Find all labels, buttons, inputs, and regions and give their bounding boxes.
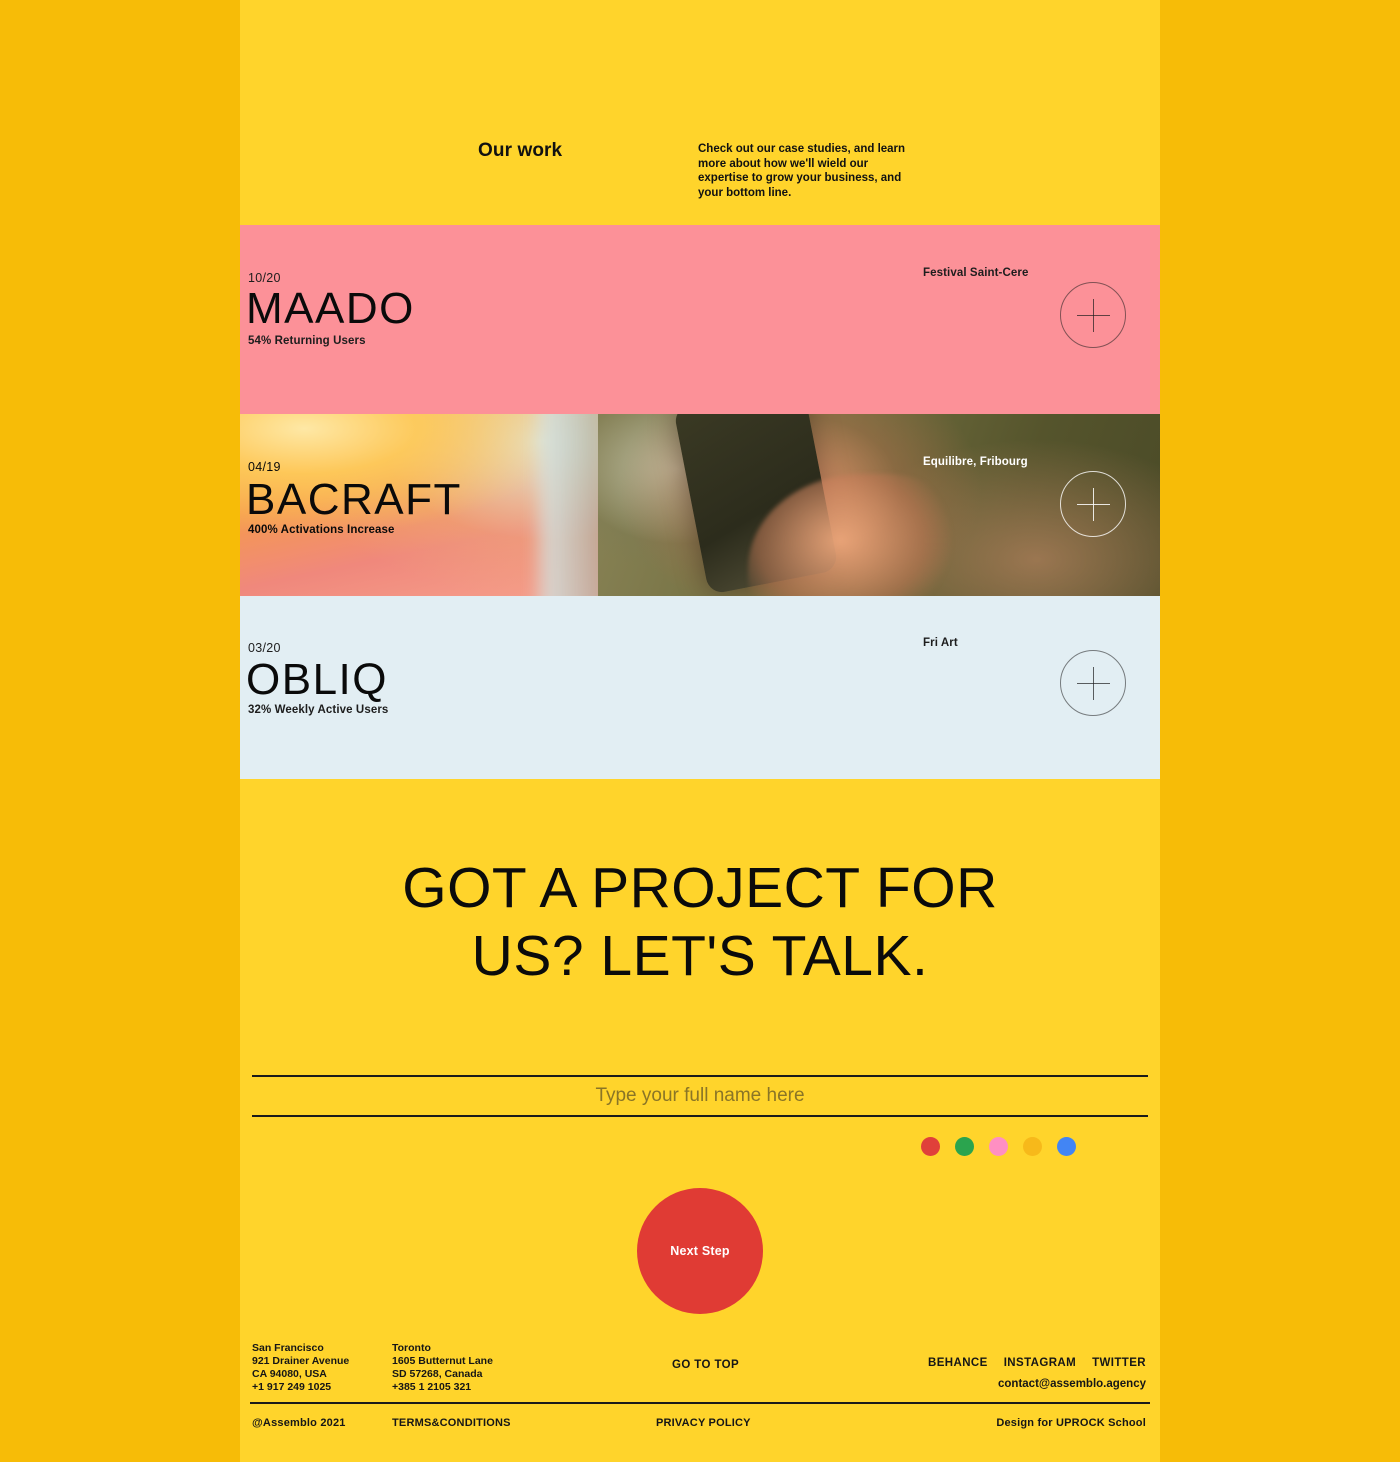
step-dot-2[interactable] xyxy=(955,1137,974,1156)
social-link-instagram[interactable]: INSTAGRAM xyxy=(1004,1357,1076,1369)
site-footer: San Francisco 921 Drainer Avenue CA 9408… xyxy=(240,1334,1160,1462)
project-row-bacraft[interactable]: 04/19 BACRAFT 400% Activations Increase … xyxy=(240,414,1160,596)
page-root: Our work Check out our case studies, and… xyxy=(0,0,1400,1462)
project-metric: 54% Returning Users xyxy=(248,335,366,347)
full-name-input[interactable] xyxy=(252,1077,1148,1115)
page-title: Our work xyxy=(478,140,562,162)
footer-divider xyxy=(250,1402,1150,1404)
project-client: Equilibre, Fribourg xyxy=(923,456,1028,468)
full-name-field[interactable] xyxy=(252,1075,1148,1117)
cta-heading-line-1: GOT A PROJECT FOR xyxy=(240,854,1160,922)
project-client: Festival Saint-Cere xyxy=(923,267,1028,279)
next-step-button[interactable]: Next Step xyxy=(637,1188,763,1314)
plus-icon[interactable] xyxy=(1060,282,1126,348)
project-metric: 32% Weekly Active Users xyxy=(248,704,388,716)
project-index: 04/19 xyxy=(248,460,281,474)
step-dot-1[interactable] xyxy=(921,1137,940,1156)
office-address-san-francisco: San Francisco 921 Drainer Avenue CA 9408… xyxy=(252,1342,349,1394)
plus-icon[interactable] xyxy=(1060,471,1126,537)
step-dot-3[interactable] xyxy=(989,1137,1008,1156)
project-name: BACRAFT xyxy=(246,478,462,522)
step-dots xyxy=(921,1137,1076,1156)
cta-heading: GOT A PROJECT FOR US? LET'S TALK. xyxy=(240,854,1160,990)
go-to-top-link[interactable]: GO TO TOP xyxy=(672,1359,739,1371)
project-index: 10/20 xyxy=(248,271,281,285)
social-link-behance[interactable]: BEHANCE xyxy=(928,1357,988,1369)
project-index: 03/20 xyxy=(248,641,281,655)
terms-link[interactable]: TERMS&CONDITIONS xyxy=(392,1417,511,1429)
project-metric: 400% Activations Increase xyxy=(248,524,395,536)
office-address-toronto: Toronto 1605 Butternut Lane SD 57268, Ca… xyxy=(392,1342,493,1394)
step-dot-5[interactable] xyxy=(1057,1137,1076,1156)
project-row-maado[interactable]: 10/20 MAADO 54% Returning Users Festival… xyxy=(240,225,1160,414)
intro-description: Check out our case studies, and learn mo… xyxy=(698,142,908,200)
project-name: OBLIQ xyxy=(246,658,388,702)
content-column: Our work Check out our case studies, and… xyxy=(240,0,1160,1462)
project-name: MAADO xyxy=(246,287,415,331)
social-link-twitter[interactable]: TWITTER xyxy=(1092,1357,1146,1369)
cta-heading-line-2: US? LET'S TALK. xyxy=(240,922,1160,990)
privacy-policy-link[interactable]: PRIVACY POLICY xyxy=(656,1417,751,1429)
project-row-obliq[interactable]: 03/20 OBLIQ 32% Weekly Active Users Fri … xyxy=(240,596,1160,779)
copyright-text: @Assemblo 2021 xyxy=(252,1417,346,1429)
social-links: BEHANCE INSTAGRAM TWITTER xyxy=(928,1357,1146,1369)
contact-email-link[interactable]: contact@assemblo.agency xyxy=(998,1378,1146,1390)
design-credit: Design for UPROCK School xyxy=(996,1417,1146,1429)
step-dot-4[interactable] xyxy=(1023,1137,1042,1156)
plus-icon[interactable] xyxy=(1060,650,1126,716)
intro-section: Our work Check out our case studies, and… xyxy=(240,0,1160,225)
project-client: Fri Art xyxy=(923,637,958,649)
